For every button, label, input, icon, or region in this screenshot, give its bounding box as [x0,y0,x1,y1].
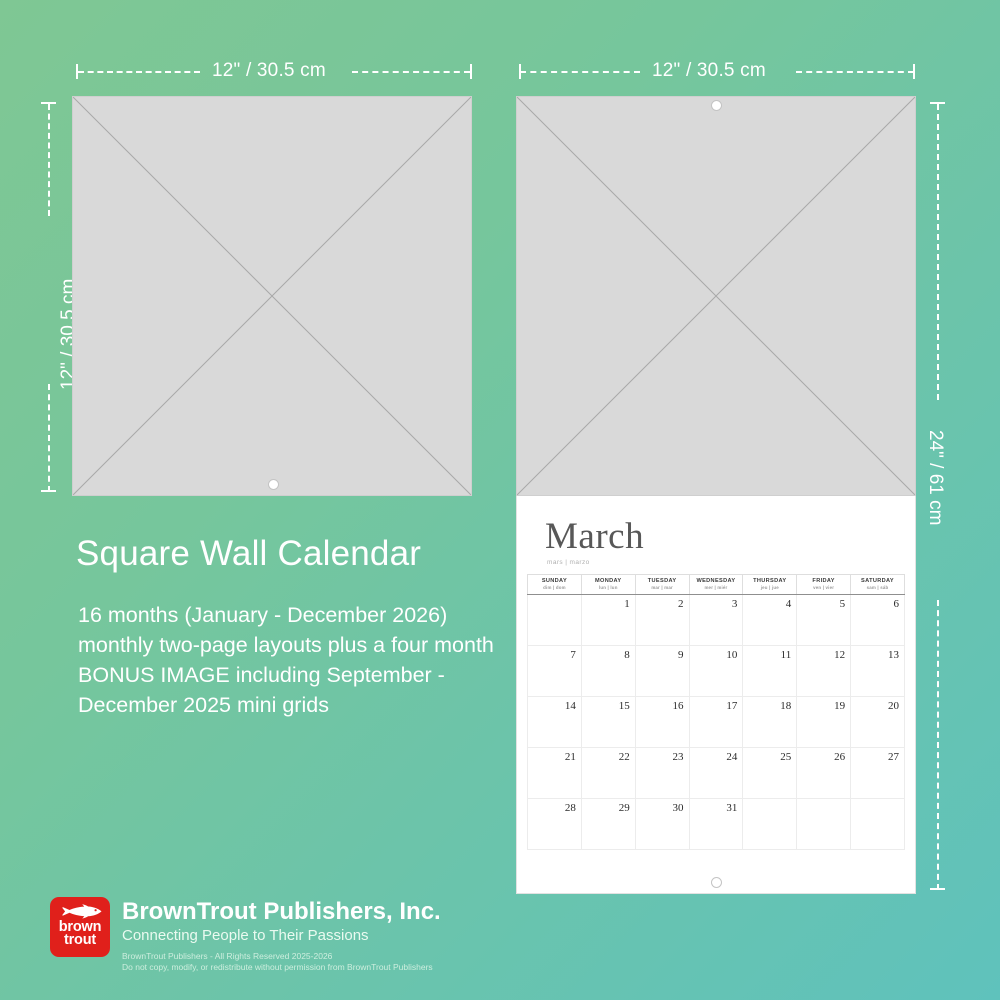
calendar-day-cell[interactable]: 8 [581,645,635,696]
weekday-label-en: WEDNESDAY [690,578,743,585]
logo-word-trout: trout [59,934,102,947]
weekday-label-intl: sam | sáb [851,585,904,591]
footer-text-block: BrownTrout Publishers, Inc. Connecting P… [122,897,441,973]
dimension-dash-top-left-right [352,71,470,73]
calendar-day-cell[interactable]: 18 [743,696,797,747]
calendar-weekday-header-wednesday: WEDNESDAYmer | miér [689,575,743,595]
calendar-weekday-header-sunday: SUNDAYdim | dom [528,575,582,595]
calendar-day-cell[interactable]: 25 [743,747,797,798]
dimension-cap-top-right-end [913,64,915,79]
calendar-day-cell[interactable]: 13 [851,645,905,696]
calendar-empty-cell [743,798,797,849]
publisher-tagline: Connecting People to Their Passions [122,926,441,945]
calendar-day-cell[interactable]: 22 [581,747,635,798]
browntrout-wordmark: brown trout [59,921,102,947]
product-description: 16 months (January - December 2026) mont… [78,600,528,720]
calendar-day-cell[interactable]: 29 [581,798,635,849]
calendar-week-row: 21222324252627 [528,747,905,798]
calendar-weekday-header-friday: FRIDAYven | vier [797,575,851,595]
calendar-empty-cell [528,594,582,645]
hanging-hole-right-panel-top [711,100,722,111]
calendar-week-row: 78910111213 [528,645,905,696]
calendar-day-cell[interactable]: 4 [743,594,797,645]
calendar-day-cell[interactable]: 5 [797,594,851,645]
dimension-dash-right-bottom [937,600,939,890]
dimension-label-right: 24" / 61 cm [924,430,946,525]
placeholder-cross-icon [517,97,915,495]
calendar-weekday-header-thursday: THURSDAYjeu | jue [743,575,797,595]
calendar-weekday-header-tuesday: TUESDAYmar | mar [635,575,689,595]
dimension-cap-top-left-end [470,64,472,79]
footer: brown trout BrownTrout Publishers, Inc. … [50,897,441,973]
calendar-weekday-header-monday: MONDAYlun | lun [581,575,635,595]
weekday-label-intl: ven | vier [797,585,850,591]
calendar-day-cell[interactable]: 10 [689,645,743,696]
weekday-label-en: MONDAY [582,578,635,585]
weekday-label-intl: mar | mar [636,585,689,591]
weekday-label-intl: mer | miér [690,585,743,591]
calendar-body: 1234567891011121314151617181920212223242… [528,594,905,849]
weekday-label-en: FRIDAY [797,578,850,585]
dimension-dash-top-right-right [796,71,914,73]
dimension-cap-top-left-start [76,64,78,79]
calendar-day-cell[interactable]: 24 [689,747,743,798]
dimension-dash-top-left-left [78,71,200,73]
dimension-label-top-left: 12" / 30.5 cm [212,60,326,82]
calendar-day-cell[interactable]: 3 [689,594,743,645]
calendar-weekday-header-saturday: SATURDAYsam | sáb [851,575,905,595]
calendar-month-title: March [545,518,905,555]
calendar-empty-cell [851,798,905,849]
calendar-empty-cell [797,798,851,849]
calendar-grid-page: March mars | marzo SUNDAYdim | domMONDAY… [516,496,916,894]
copyright-line-1: BrownTrout Publishers - All Rights Reser… [122,951,441,962]
calendar-day-cell[interactable]: 31 [689,798,743,849]
calendar-week-row: 28293031 [528,798,905,849]
calendar-day-cell[interactable]: 2 [635,594,689,645]
calendar-image-panel-left [72,96,472,496]
calendar-day-cell[interactable]: 28 [528,798,582,849]
dimension-dash-top-right-left [520,71,640,73]
calendar-day-cell[interactable]: 16 [635,696,689,747]
calendar-day-cell[interactable]: 11 [743,645,797,696]
hanging-hole-left-panel [268,479,279,490]
publisher-name: BrownTrout Publishers, Inc. [122,899,441,925]
calendar-month-translations: mars | marzo [547,559,905,566]
calendar-day-cell[interactable]: 14 [528,696,582,747]
weekday-label-en: TUESDAY [636,578,689,585]
dimension-dash-left-bottom [48,384,50,492]
dimension-dash-left-top [48,104,50,216]
calendar-week-row: 123456 [528,594,905,645]
trout-fish-icon [57,903,103,920]
browntrout-logo: brown trout [50,897,110,957]
dimension-cap-top-right-start [519,64,521,79]
weekday-label-intl: jeu | jue [743,585,796,591]
calendar-day-cell[interactable]: 7 [528,645,582,696]
dimension-cap-right-start [930,102,945,104]
calendar-day-cell[interactable]: 1 [581,594,635,645]
dimension-cap-left-end [41,490,56,492]
calendar-day-cell[interactable]: 27 [851,747,905,798]
calendar-day-cell[interactable]: 17 [689,696,743,747]
calendar-day-cell[interactable]: 9 [635,645,689,696]
calendar-table: SUNDAYdim | domMONDAYlun | lunTUESDAYmar… [527,574,905,850]
calendar-header-row: SUNDAYdim | domMONDAYlun | lunTUESDAYmar… [528,575,905,595]
calendar-day-cell[interactable]: 15 [581,696,635,747]
calendar-day-cell[interactable]: 19 [797,696,851,747]
weekday-label-en: THURSDAY [743,578,796,585]
dimension-dash-right-top [937,104,939,400]
copyright-line-2: Do not copy, modify, or redistribute wit… [122,962,441,973]
calendar-day-cell[interactable]: 23 [635,747,689,798]
calendar-day-cell[interactable]: 26 [797,747,851,798]
dimension-label-top-right: 12" / 30.5 cm [652,60,766,82]
weekday-label-en: SATURDAY [851,578,904,585]
calendar-day-cell[interactable]: 30 [635,798,689,849]
weekday-label-intl: lun | lun [582,585,635,591]
weekday-label-en: SUNDAY [528,578,581,585]
dimension-cap-right-end [930,888,945,890]
calendar-day-cell[interactable]: 12 [797,645,851,696]
product-mockup-stage: 12" / 30.5 cm 12" / 30.5 cm 12" / 30.5 c… [0,0,1000,1000]
calendar-day-cell[interactable]: 20 [851,696,905,747]
calendar-day-cell[interactable]: 21 [528,747,582,798]
calendar-day-cell[interactable]: 6 [851,594,905,645]
calendar-week-row: 14151617181920 [528,696,905,747]
placeholder-cross-icon [73,97,471,495]
calendar-image-panel-right [516,96,916,496]
product-title: Square Wall Calendar [76,534,421,574]
weekday-label-intl: dim | dom [528,585,581,591]
dimension-cap-left-start [41,102,56,104]
hanging-hole-calendar-bottom [711,877,722,888]
